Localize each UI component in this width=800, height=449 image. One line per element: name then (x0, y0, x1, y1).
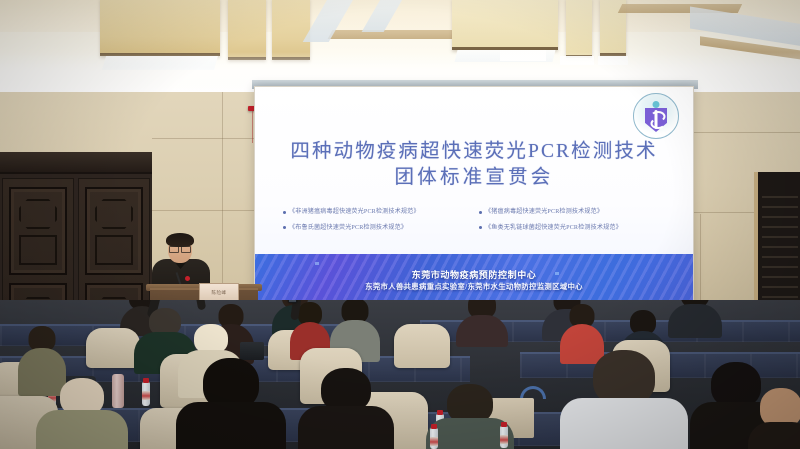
bullet-dot-icon (283, 211, 286, 214)
list-item: 《布鲁氏菌超快速荧光PCR检测技术规范》 (283, 225, 469, 232)
louver-slat (762, 226, 798, 228)
bottle-label (430, 437, 438, 446)
bullet-dot-icon (479, 211, 482, 214)
bullet-text: 《猪瘟病毒超快速荧光PCR检测技术规范》 (485, 209, 603, 216)
organization-secondary: 东莞市人兽共患病重点实验室/东莞市水生动物防控监测区域中心 (255, 281, 693, 292)
door-panel-motif (19, 235, 57, 265)
louver-slat (762, 276, 798, 278)
bottle-cap (501, 422, 507, 427)
decor-sparkle (403, 286, 407, 289)
door-panel-motif (95, 235, 133, 265)
audience-torso (560, 398, 688, 449)
louver-slat (762, 216, 798, 218)
door-panel-motif (19, 199, 57, 229)
list-item: 《鱼类无乳链球菌超快速荧光PCR检测技术规范》 (479, 225, 665, 232)
louver-slat (762, 246, 798, 248)
louver-slat (762, 206, 798, 208)
audience-member (560, 350, 688, 449)
slide-title-line2: 团体标准宣贯会 (255, 165, 693, 191)
audience-member (668, 300, 722, 334)
caduceus-icon (655, 110, 658, 129)
name-placard-text: 陈险峰 (212, 290, 227, 296)
bullet-text: 《布鲁氏菌超快速荧光PCR检测技术规范》 (289, 225, 407, 232)
bottle-label (142, 391, 150, 400)
bottle-cap (431, 424, 437, 429)
audience-torso (176, 402, 286, 449)
conference-photo: 四种动物疫病超快速荧光PCR检测技术 团体标准宣贯会 《非洲猪瘟病毒超快速荧光P… (0, 0, 800, 449)
louver-slat (762, 256, 798, 258)
phone-screen (289, 300, 296, 302)
door-header-beam (0, 152, 152, 174)
bullet-text: 《非洲猪瘟病毒超快速荧光PCR检测技术规范》 (289, 209, 420, 216)
fire-alarm-conduit (252, 111, 253, 143)
audience-torso (456, 315, 508, 347)
audience-torso (668, 304, 722, 338)
water-bottle (142, 382, 150, 406)
audience-member (748, 388, 800, 449)
cdc-emblem-logo (633, 93, 679, 139)
logo-dot-icon (653, 101, 660, 108)
presentation-slide: 四种动物疫病超快速荧光PCR检测技术 团体标准宣贯会 《非洲猪瘟病毒超快速荧光P… (255, 87, 693, 317)
water-bottle (500, 426, 508, 448)
ceiling-pendant (566, 0, 592, 58)
projection-screen: 四种动物疫病超快速荧光PCR检测技术 团体标准宣贯会 《非洲猪瘟病毒超快速荧光P… (254, 86, 694, 318)
bottle-cap (143, 378, 149, 383)
bullet-dot-icon (479, 226, 482, 229)
decor-sparkle (315, 262, 319, 265)
ceiling-pendant (272, 0, 310, 60)
audience-torso (298, 406, 394, 449)
audience-member (298, 368, 394, 449)
louver-slat (762, 236, 798, 238)
audience-torso (748, 422, 800, 449)
louver-slat (762, 266, 798, 268)
bottle-label (500, 435, 508, 444)
speaker-hair (166, 233, 194, 247)
list-item: 《猪瘟病毒超快速荧光PCR检测技术规范》 (479, 209, 665, 216)
decor-sparkle (555, 272, 559, 275)
louver-slat (762, 286, 798, 288)
wall-panel-seam (690, 132, 800, 133)
wall-panel-seam (152, 210, 262, 211)
louver-slat (762, 296, 798, 298)
slide-bullet-list: 《非洲猪瘟病毒超快速荧光PCR检测技术规范》 《猪瘟病毒超快速荧光PCR检测技术… (283, 209, 665, 231)
organization-primary: 东莞市动物疫病预防控制中心 (255, 268, 693, 281)
slide-title-line1: 四种动物疫病超快速荧光PCR检测技术 (255, 139, 693, 165)
smartphone (288, 300, 297, 303)
door-panel-motif (95, 199, 133, 229)
audience-area (0, 300, 800, 449)
ceiling-pendant (228, 0, 266, 60)
audience-member (456, 300, 508, 342)
bullet-text: 《鱼类无乳链球菌超快速荧光PCR检测技术规范》 (485, 225, 622, 232)
slide-title: 四种动物疫病超快速荧光PCR检测技术 团体标准宣贯会 (255, 139, 693, 190)
audience-member (36, 378, 128, 449)
audience-torso (36, 410, 128, 449)
water-bottle (430, 428, 438, 449)
ceiling-pendant (452, 0, 558, 50)
eyeglasses-icon (169, 246, 191, 251)
ceiling-pendant (100, 0, 220, 56)
louver-slat (762, 196, 798, 198)
audience-member (176, 358, 286, 449)
speaker-badge (185, 276, 190, 281)
chair (394, 324, 450, 368)
chair (86, 328, 140, 368)
list-item: 《非洲猪瘟病毒超快速荧光PCR检测技术规范》 (283, 209, 469, 216)
bullet-dot-icon (283, 226, 286, 229)
